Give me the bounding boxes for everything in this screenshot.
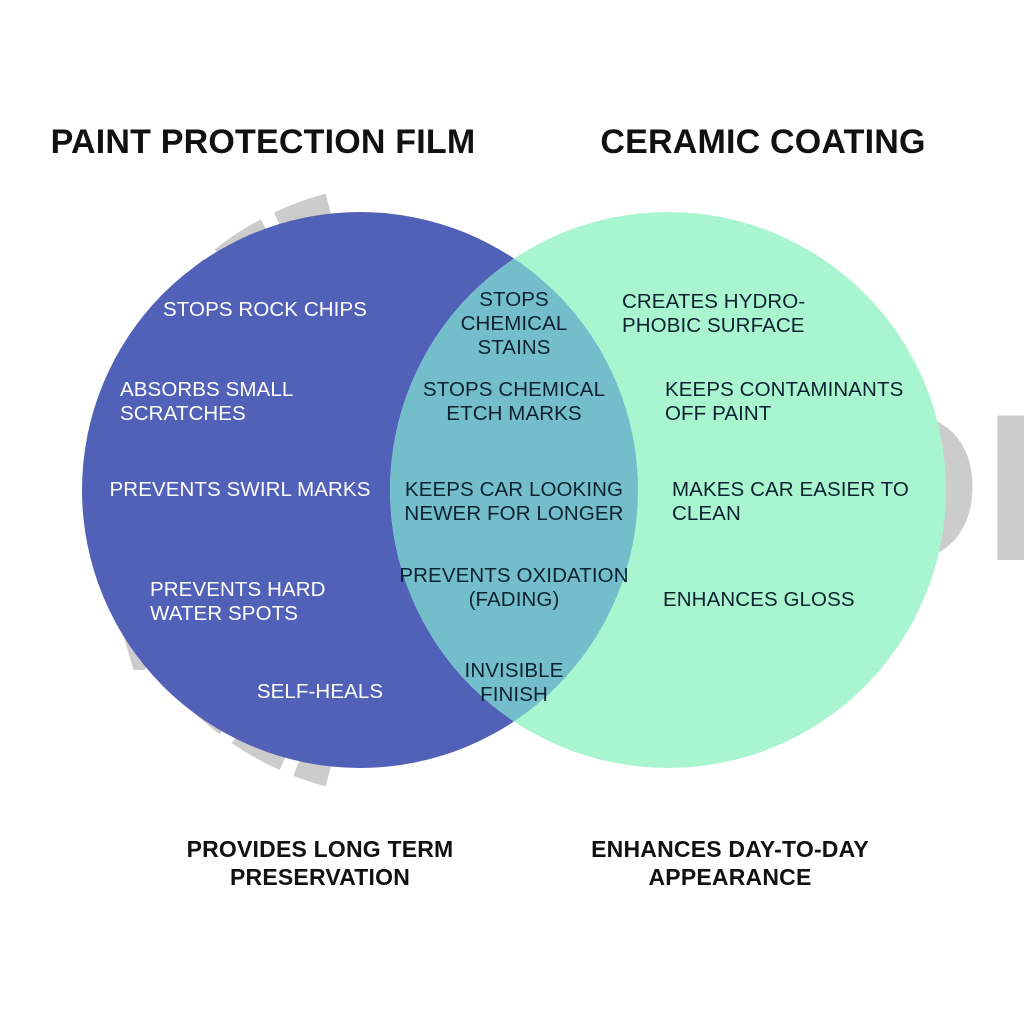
list-item: INVISIBLE FINISH <box>430 659 598 707</box>
list-item: STOPS CHEMICAL STAINS <box>430 288 598 359</box>
list-item: STOPS CHEMICAL ETCH MARKS <box>398 378 630 426</box>
left-set-caption: PROVIDES LONG TERM PRESERVATION <box>110 836 530 891</box>
list-item: PREVENTS SWIRL MARKS <box>80 478 400 502</box>
list-item: PREVENTS OXIDATION (FADING) <box>390 564 638 612</box>
list-item: KEEPS CAR LOOKING NEWER FOR LONGER <box>390 478 638 526</box>
list-item: KEEPS CONTAMINANTS OFF PAINT <box>665 378 950 426</box>
list-item: CREATES HYDRO- PHOBIC SURFACE <box>622 290 922 338</box>
list-item: SELF-HEALS <box>180 680 460 704</box>
right-set-caption: ENHANCES DAY-TO-DAY APPEARANCE <box>520 836 940 891</box>
list-item: ENHANCES GLOSS <box>663 588 943 612</box>
list-item: STOPS ROCK CHIPS <box>115 298 415 322</box>
list-item: ABSORBS SMALL SCRATCHES <box>120 378 410 426</box>
left-set-title: PAINT PROTECTION FILM <box>48 124 478 161</box>
right-set-title: CERAMIC COATING <box>548 124 978 161</box>
venn-diagram-canvas: SUNSTOP Window Tinting PAINT PROTECTION … <box>0 0 1024 1024</box>
list-item: MAKES CAR EASIER TO CLEAN <box>672 478 934 526</box>
